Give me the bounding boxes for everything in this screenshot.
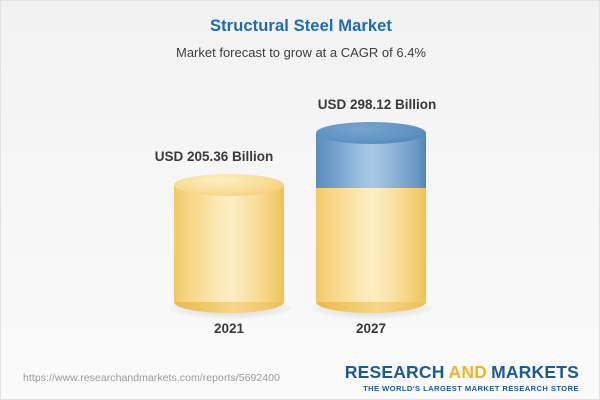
bar-cylinder-2027[interactable] <box>316 122 426 308</box>
infographic-canvas: Structural Steel Market Market forecast … <box>0 0 600 400</box>
bar-cylinder-top-2027 <box>316 122 426 144</box>
bar-cylinder-segment-yellow-2027 <box>316 187 426 302</box>
logo-word-research: RESEARCH <box>345 362 445 382</box>
bar-value-label-2027: USD 298.12 Billion <box>287 97 467 112</box>
source-url[interactable]: https://www.researchandmarkets.com/repor… <box>23 372 280 384</box>
bar-cylinder-2021[interactable] <box>174 174 284 308</box>
category-label-2027: 2027 <box>281 321 461 336</box>
logo-tagline: THE WORLD'S LARGEST MARKET RESEARCH STOR… <box>345 383 579 394</box>
bar-cylinder-top-2021 <box>174 174 284 196</box>
bar-cylinder-body-2021 <box>174 185 284 302</box>
logo-wordmark: RESEARCHANDMARKETS <box>345 363 579 382</box>
logo-word-and: AND <box>449 362 488 382</box>
logo-word-markets: MARKETS <box>491 362 579 382</box>
bar-value-label-2021: USD 205.36 Billion <box>124 149 304 164</box>
research-and-markets-logo[interactable]: RESEARCHANDMARKETS THE WORLD'S LARGEST M… <box>345 363 579 394</box>
chart-plot-area: USD 205.36 Billion 2021 USD 298.12 Billi… <box>1 1 600 400</box>
